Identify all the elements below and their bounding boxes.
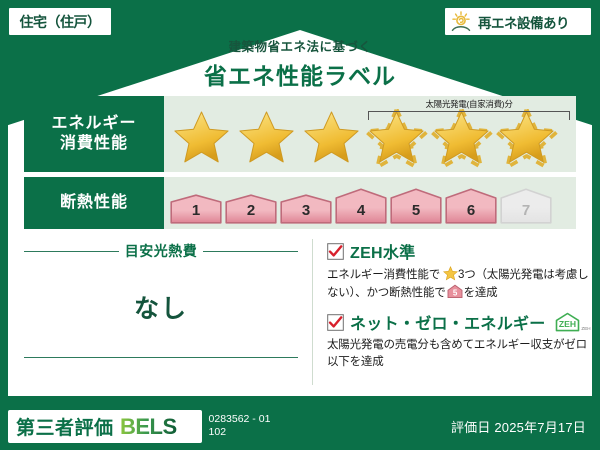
third-party-evaluation-label: 第三者評価 xyxy=(16,413,114,440)
dwelling-type-label: 住宅（住戸） xyxy=(20,12,101,32)
svg-text:ZEH: ZEH xyxy=(581,326,590,331)
insulation-level-scale: 1234567 xyxy=(170,188,552,229)
star-rating xyxy=(170,99,558,169)
title-block: 建築物省エネ法に基づく 省エネ性能ラベル xyxy=(0,36,600,91)
insulation-level-number: 6 xyxy=(445,202,497,219)
insulation-level-active: 6 xyxy=(445,188,497,224)
energy-performance-value: 太陽光発電(自家消費)分 xyxy=(164,96,576,172)
energy-performance-row: エネルギー 消費性能 太陽光発電(自家消費)分 xyxy=(24,96,576,172)
star-icon xyxy=(170,109,233,169)
energy-performance-label: 住宅（住戸） 再エネ設備あり 建築物省エネ法に基づく 省エネ性能ラベル xyxy=(0,0,600,450)
insulation-level-number: 7 xyxy=(500,202,552,219)
energy-label-line2: 消費性能 xyxy=(60,134,128,154)
sun-icon xyxy=(450,11,474,33)
insulation-level-active: 4 xyxy=(335,188,387,224)
criterion-zeh-standard-desc: エネルギー消費性能で 3つ（太陽光発電は考慮しない）、かつ断熱性能で 5 を達成 xyxy=(327,266,594,301)
utility-cost-heading: 目安光熱費 xyxy=(24,241,298,261)
insulation-level-active: 2 xyxy=(225,194,277,224)
criterion-net-zero-energy: ネット・ゼロ・エネルギー ZEH ZEH 太陽光発電の売電分も含めてエネルギー収… xyxy=(327,310,594,370)
star-icon xyxy=(300,109,363,169)
house-level-icon: 5 xyxy=(447,284,463,299)
page-title: 省エネ性能ラベル xyxy=(0,57,600,91)
utility-cost-heading-label: 目安光熱費 xyxy=(125,241,198,261)
utility-cost-bottom-rule xyxy=(24,357,298,358)
insulation-level-number: 4 xyxy=(335,202,387,219)
star-icon xyxy=(235,109,298,169)
registration-number-line2: 102 xyxy=(209,426,271,439)
bottom-section: 目安光熱費 なし ZEH水準 xyxy=(24,239,576,385)
renewable-equipment-badge: 再エネ設備あり xyxy=(444,7,592,36)
utility-cost-value: なし xyxy=(24,289,298,325)
energy-performance-label: エネルギー 消費性能 xyxy=(24,96,164,172)
renewable-equipment-label: 再エネ設備あり xyxy=(478,12,569,32)
insulation-level-number: 5 xyxy=(390,202,442,219)
heading-rule-right xyxy=(203,251,298,252)
registration-number-line1: 0283562 - 01 xyxy=(209,413,271,426)
svg-text:BELS: BELS xyxy=(120,415,177,438)
criterion-zeh-standard-title: ZEH水準 xyxy=(350,239,416,263)
title-subtitle: 建築物省エネ法に基づく xyxy=(0,36,600,55)
star-icon-solar xyxy=(430,109,493,169)
insulation-performance-label: 断熱性能 xyxy=(24,177,164,229)
energy-label-line1: エネルギー xyxy=(51,114,136,134)
footer-left-group: 第三者評価 BELS 0283562 xyxy=(8,410,270,443)
registration-number: 0283562 - 01 102 xyxy=(209,413,271,439)
zeh-house-logo-icon: ZEH ZEH xyxy=(554,312,594,333)
insulation-label-text: 断熱性能 xyxy=(60,193,128,213)
label-content: エネルギー 消費性能 太陽光発電(自家消費)分 断熱性能 1234567 xyxy=(24,96,576,390)
criterion-net-zero-energy-title: ネット・ゼロ・エネルギー xyxy=(350,310,546,334)
dwelling-type-badge: 住宅（住戸） xyxy=(8,7,112,36)
heading-rule-left xyxy=(24,251,119,252)
insulation-level-active: 1 xyxy=(170,194,222,224)
footer-bar: 第三者評価 BELS 0283562 xyxy=(0,402,600,450)
bels-plate: 第三者評価 BELS xyxy=(8,410,202,443)
insulation-level-active: 5 xyxy=(390,188,442,224)
criteria-panel: ZEH水準 エネルギー消費性能で 3つ（太陽光発電は考慮しない）、かつ断熱性能で… xyxy=(312,239,594,385)
insulation-performance-value: 1234567 xyxy=(164,177,576,229)
evaluation-date: 評価日 2025年7月17日 xyxy=(451,417,586,436)
criterion-net-zero-energy-header: ネット・ゼロ・エネルギー ZEH ZEH xyxy=(327,310,594,334)
star-icon xyxy=(443,266,458,281)
insulation-level-inactive: 7 xyxy=(500,188,552,224)
utility-cost-panel: 目安光熱費 なし xyxy=(24,239,312,385)
insulation-level-number: 3 xyxy=(280,202,332,219)
insulation-level-number: 2 xyxy=(225,202,277,219)
insulation-level-number: 1 xyxy=(170,202,222,219)
checkmark-icon xyxy=(327,243,344,260)
criterion-zeh-standard: ZEH水準 エネルギー消費性能で 3つ（太陽光発電は考慮しない）、かつ断熱性能で… xyxy=(327,239,594,301)
star-icon-solar xyxy=(365,109,428,169)
star-icon-solar xyxy=(495,109,558,169)
criterion-zeh-standard-header: ZEH水準 xyxy=(327,239,594,263)
bels-logo-icon: BELS xyxy=(120,415,194,438)
checkmark-icon xyxy=(327,314,344,331)
svg-text:ZEH: ZEH xyxy=(559,319,576,329)
desc-text-part-1: エネルギー消費性能で xyxy=(327,269,440,281)
desc-text-part-4: を達成 xyxy=(464,287,498,299)
insulation-level-active: 3 xyxy=(280,194,332,224)
criterion-net-zero-energy-desc: 太陽光発電の売電分も含めてエネルギー収支がゼロ以下を達成 xyxy=(327,337,594,370)
insulation-performance-row: 断熱性能 1234567 xyxy=(24,177,576,229)
